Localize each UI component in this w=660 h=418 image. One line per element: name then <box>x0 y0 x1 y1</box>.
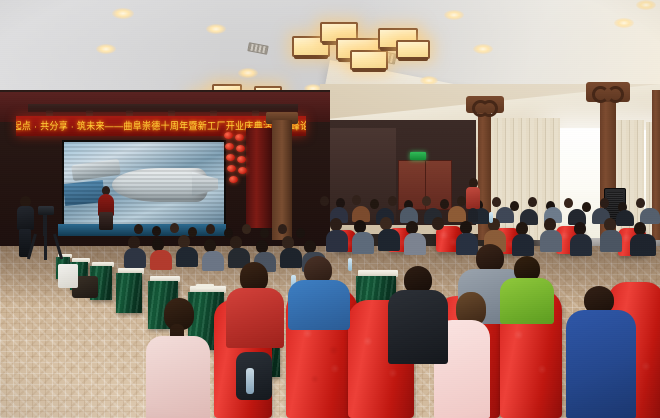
audience-person <box>616 210 634 226</box>
audience-person <box>202 251 224 271</box>
audience-person-ponytail <box>146 298 210 418</box>
downlight-icon <box>614 18 634 28</box>
stage-pillar <box>272 120 292 240</box>
green-velvet-table-skirt <box>116 273 142 313</box>
audience-person <box>124 248 146 268</box>
audience-person-red-sweater <box>226 262 284 344</box>
water-bottle <box>489 212 493 223</box>
audience-person <box>378 229 400 251</box>
notepad <box>196 284 214 289</box>
water-bottle <box>246 368 254 394</box>
lantern-icon <box>227 165 236 172</box>
audience-person-green-jacket <box>500 256 554 320</box>
audience-person-navy-puffer <box>566 286 636 418</box>
box-light-icon <box>396 40 430 59</box>
screen-scanline-overlay <box>64 142 224 228</box>
person-torso <box>566 310 636 418</box>
audience-person <box>404 233 426 255</box>
lantern-icon <box>225 143 234 150</box>
video-camera-icon <box>38 206 54 215</box>
audience-person-black-coat <box>388 266 448 362</box>
audience-person <box>570 234 592 256</box>
backpack <box>236 352 272 400</box>
audience-person <box>176 247 198 267</box>
lantern-icon <box>236 145 245 152</box>
audience-person <box>600 230 622 252</box>
lantern-icon <box>237 156 246 163</box>
lantern-icon <box>238 167 247 174</box>
downlight-icon <box>636 0 656 10</box>
column-capital <box>466 96 504 113</box>
red-lantern-cluster <box>222 132 250 194</box>
column-capital <box>586 82 630 102</box>
presenter-at-lectern <box>98 186 114 228</box>
downlight-icon <box>473 44 493 54</box>
camera-tripod <box>34 214 56 260</box>
exit-sign <box>410 152 426 160</box>
conference-hall-photo: 新起点 · 共分享 · 筑未来——曲阜崇德十周年暨新工厂开业庆典活动高峰论坛 <box>0 0 660 418</box>
audience-person <box>326 230 348 252</box>
audience-person <box>630 234 656 256</box>
person-torso <box>146 336 210 418</box>
person-torso <box>388 290 448 364</box>
lantern-icon <box>226 154 235 161</box>
shopping-bag <box>58 264 78 288</box>
staff-legs <box>468 208 478 222</box>
ceiling-light-cluster <box>292 8 432 64</box>
audience-person <box>448 206 466 222</box>
lantern-icon <box>229 176 238 183</box>
downlight-icon <box>444 10 464 20</box>
downlight-icon <box>112 8 134 19</box>
downlight-icon <box>238 68 258 78</box>
person-torso <box>288 280 350 330</box>
audience-person <box>150 250 172 270</box>
lantern-icon <box>224 132 233 139</box>
person-torso <box>500 278 554 324</box>
downlight-icon <box>96 44 116 54</box>
staff-torso <box>466 187 480 209</box>
audience-person <box>540 230 562 252</box>
lectern <box>99 212 113 230</box>
person-torso <box>226 288 284 348</box>
audience-person-blue-jacket <box>288 256 350 326</box>
box-light-icon <box>350 50 388 70</box>
audience-person <box>352 232 374 254</box>
downlight-icon <box>206 24 226 34</box>
lantern-icon <box>235 134 244 141</box>
operator-torso <box>17 206 34 230</box>
led-video-wall <box>62 140 226 230</box>
standing-staff-member <box>466 178 480 220</box>
audience-person <box>640 208 660 224</box>
